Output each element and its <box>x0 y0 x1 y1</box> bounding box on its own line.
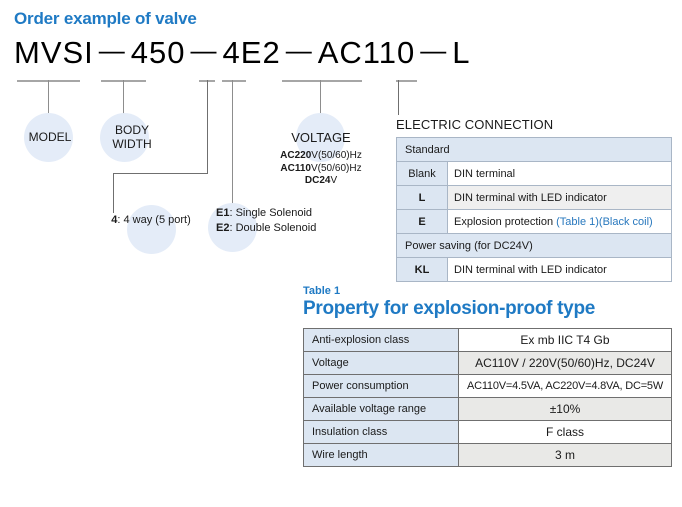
property-key: Voltage <box>304 352 459 375</box>
callout-label-body-width: BODY WIDTH <box>96 124 168 152</box>
order-code-segment-body-width: 450 <box>131 35 186 70</box>
connection-code-e: E <box>397 210 448 234</box>
order-code: MVSI—450—4E2—AC110—L <box>14 35 470 71</box>
connection-desc-blank: DIN terminal <box>448 162 672 186</box>
leader-bar-electric-connection <box>396 80 417 82</box>
connection-desc-e-text: Explosion protection <box>454 216 556 228</box>
table-row: Voltage AC110V / 220V(50/60)Hz, DC24V <box>304 352 672 375</box>
callout-voltage-options: AC220V(50/60)Hz AC110V(50/60)Hz DC24V <box>258 150 384 188</box>
order-code-dash: — <box>281 35 318 65</box>
property-key: Insulation class <box>304 421 459 444</box>
property-value: F class <box>459 421 672 444</box>
table1-properties: Anti-explosion class Ex mb IIC T4 Gb Vol… <box>303 328 672 467</box>
connection-code-blank: Blank <box>397 162 448 186</box>
voltage-option: AC110V(50/60)Hz <box>258 163 384 176</box>
property-value: ±10% <box>459 398 672 421</box>
voltage-option-suffix: V(50/60)Hz <box>311 163 362 174</box>
order-code-dash: — <box>415 35 452 65</box>
table-row-group-header: Standard <box>397 138 672 162</box>
property-value: 3 m <box>459 444 672 467</box>
solenoid-option: E2: Double Solenoid <box>216 221 316 236</box>
table-row: Power consumption AC110V=4.5VA, AC220V=4… <box>304 375 672 398</box>
order-code-dash: — <box>94 35 131 65</box>
leader-elbow-way <box>113 173 208 174</box>
solenoid-option-code: E2 <box>216 222 229 234</box>
table1-title: Property for explosion-proof type <box>303 298 595 320</box>
table1-label: Table 1 <box>303 285 340 297</box>
callout-label-body-width-line2: WIDTH <box>96 138 168 152</box>
leader-bar-voltage <box>282 80 362 82</box>
connection-desc-e: Explosion protection (Table 1)(Black coi… <box>448 210 672 234</box>
order-code-segment-function: 4E2 <box>223 35 281 70</box>
table-row-group-header: Power saving (for DC24V) <box>397 234 672 258</box>
callout-label-body-width-line1: BODY <box>96 124 168 138</box>
page-title: Order example of valve <box>14 9 197 29</box>
leader-bar-solenoid <box>222 80 246 82</box>
electric-connection-title: ELECTRIC CONNECTION <box>396 117 553 132</box>
table-row: L DIN terminal with LED indicator <box>397 186 672 210</box>
property-value: AC110V=4.5VA, AC220V=4.8VA, DC=5W <box>459 375 672 398</box>
order-code-segment-connection: L <box>452 35 470 70</box>
electric-connection-table: Standard Blank DIN terminal L DIN termin… <box>396 137 672 282</box>
property-value: Ex mb IIC T4 Gb <box>459 329 672 352</box>
connection-desc-kl: DIN terminal with LED indicator <box>448 258 672 282</box>
callout-label-way: 4: 4 way (5 port) <box>86 214 216 226</box>
voltage-option: AC220V(50/60)Hz <box>258 150 384 163</box>
table-row: KL DIN terminal with LED indicator <box>397 258 672 282</box>
group-header-power-saving: Power saving (for DC24V) <box>397 234 672 258</box>
table-row: Available voltage range ±10% <box>304 398 672 421</box>
table-row: E Explosion protection (Table 1)(Black c… <box>397 210 672 234</box>
voltage-option: DC24V <box>258 175 384 188</box>
callout-way-text: : 4 way (5 port) <box>117 214 190 226</box>
order-code-dash: — <box>186 35 223 65</box>
voltage-option-code: AC110 <box>280 163 311 174</box>
table-row: Insulation class F class <box>304 421 672 444</box>
voltage-option-suffix: V(50/60)Hz <box>311 150 362 161</box>
connection-desc-l: DIN terminal with LED indicator <box>448 186 672 210</box>
connection-code-kl: KL <box>397 258 448 282</box>
property-key: Wire length <box>304 444 459 467</box>
callout-label-model: MODEL <box>14 131 86 145</box>
callout-label-solenoid: E1: Single Solenoid E2: Double Solenoid <box>216 206 316 236</box>
table1-reference-link[interactable]: (Table 1)(Black coil) <box>556 216 653 228</box>
voltage-option-suffix: V <box>330 175 337 186</box>
leader-line-electric-connection <box>398 80 399 115</box>
order-code-segment-model: MVSI <box>14 35 94 70</box>
property-key: Anti-explosion class <box>304 329 459 352</box>
callout-label-voltage: VOLTAGE <box>272 131 370 146</box>
property-key: Available voltage range <box>304 398 459 421</box>
connection-code-l: L <box>397 186 448 210</box>
property-value: AC110V / 220V(50/60)Hz, DC24V <box>459 352 672 375</box>
leader-line-solenoid <box>232 80 233 204</box>
leader-line-way <box>207 80 208 173</box>
solenoid-option-text: : Double Solenoid <box>229 222 316 234</box>
solenoid-option-code: E1 <box>216 207 229 219</box>
property-key: Power consumption <box>304 375 459 398</box>
solenoid-option: E1: Single Solenoid <box>216 206 316 221</box>
table-row: Wire length 3 m <box>304 444 672 467</box>
group-header-standard: Standard <box>397 138 672 162</box>
voltage-option-code: AC220 <box>280 150 311 161</box>
order-code-segment-voltage: AC110 <box>318 35 416 70</box>
voltage-option-code: DC24 <box>305 175 331 186</box>
table-row: Anti-explosion class Ex mb IIC T4 Gb <box>304 329 672 352</box>
leader-line-way-drop <box>113 173 114 213</box>
solenoid-option-text: : Single Solenoid <box>229 207 312 219</box>
callout-bubble-way <box>127 205 176 254</box>
table-row: Blank DIN terminal <box>397 162 672 186</box>
